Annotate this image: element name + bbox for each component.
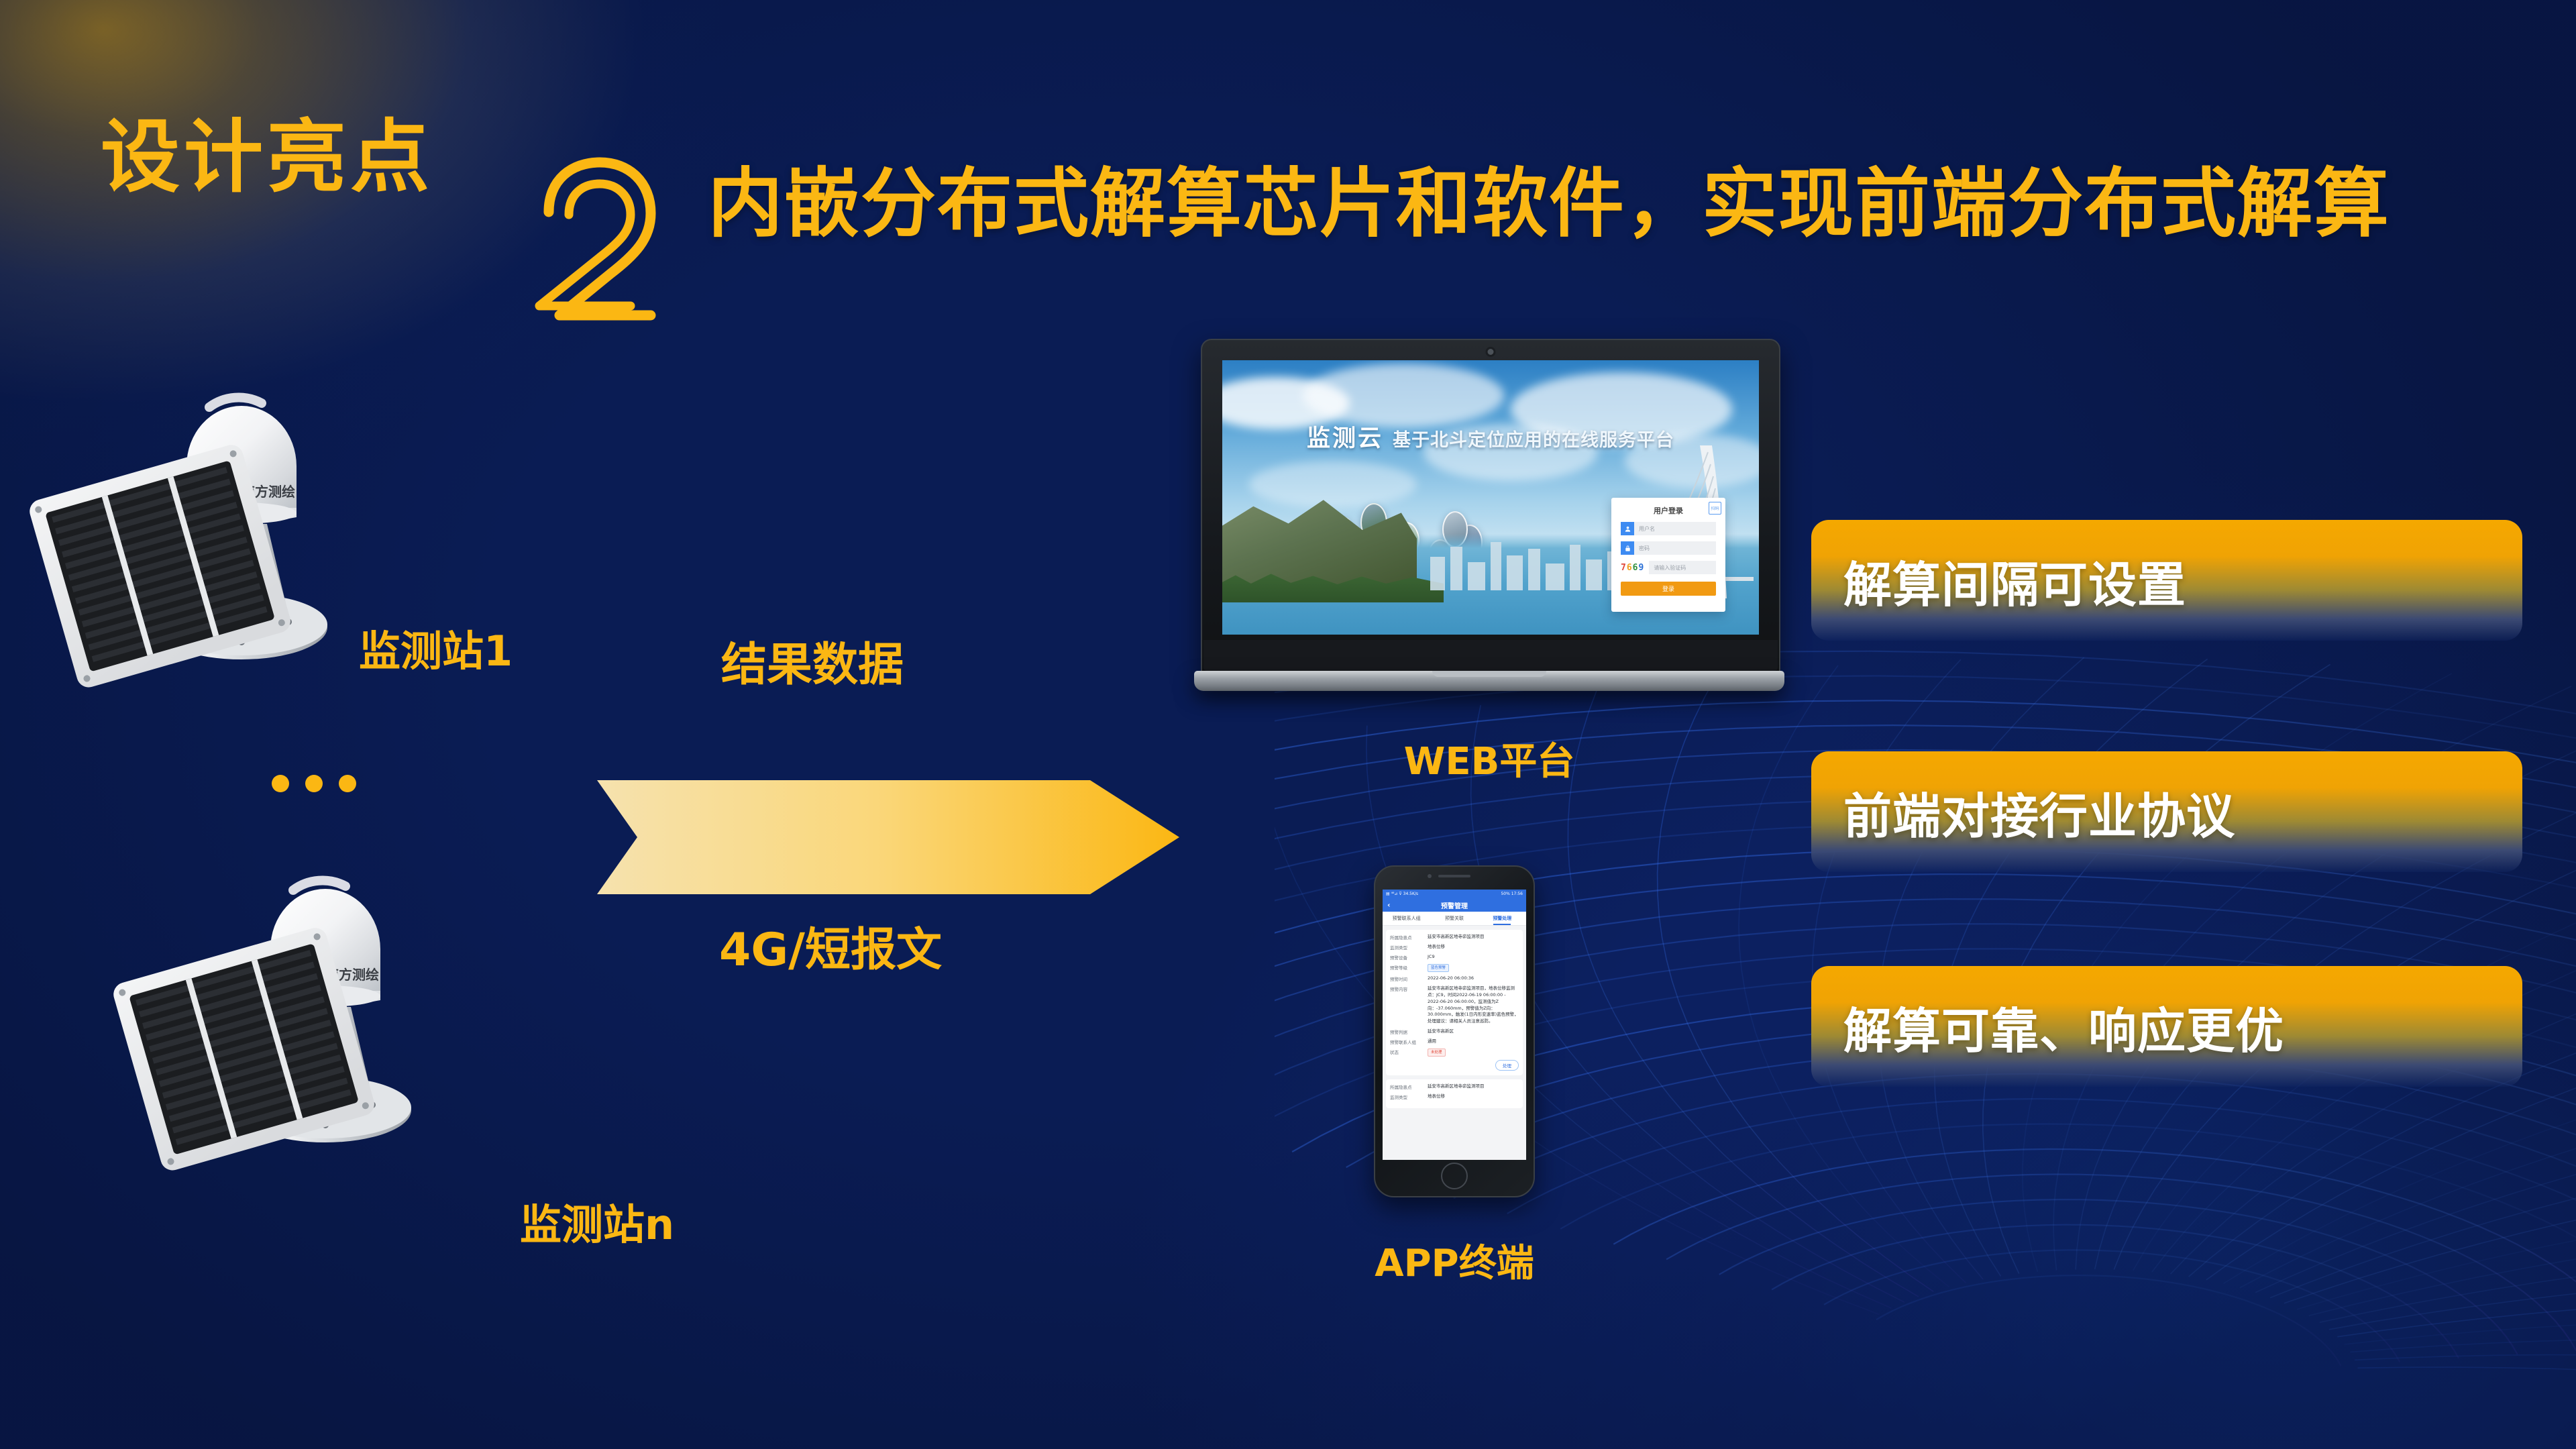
field-value: JC9 [1428, 954, 1519, 961]
alert-record-card-2: 所属隐患点延安市高新区地寺峁监测项目 监测类型地表位移 [1386, 1079, 1523, 1108]
laptop-device: 监测云基于北斗定位应用的在线服务平台 [1194, 339, 1784, 714]
field-value: 地表位移 [1428, 944, 1519, 951]
monitoring-station-n-device: SOUTH 南方测绘 [104, 815, 480, 1191]
design-highlight-label: 设计亮点 [101, 117, 433, 197]
slide-root: 设计亮点 内嵌分布式解算芯片和软件，实现前端分布式解算 [0, 0, 2576, 1449]
field-key: 预警内容 [1390, 985, 1428, 1025]
feature-badge-protocol[interactable]: 前端对接行业协议 [1811, 751, 2522, 872]
field-key: 监测类型 [1390, 944, 1428, 951]
app-navbar: ‹ 预警管理 [1383, 898, 1526, 912]
station-n-label: 监测站n [520, 1191, 674, 1251]
laptop-screen: 监测云基于北斗定位应用的在线服务平台 [1222, 360, 1759, 635]
data-flow-arrow-icon [597, 775, 1181, 899]
page-title: 内嵌分布式解算芯片和软件，实现前端分布式解算 [708, 166, 2390, 241]
web-brand-name: 监测云 [1307, 425, 1383, 452]
field-value: 通用 [1428, 1038, 1519, 1045]
card-actions: 处理 [1390, 1060, 1519, 1071]
ellipsis-dots [272, 775, 356, 792]
handle-button[interactable]: 处理 [1495, 1060, 1519, 1071]
alert-record-card: 所属隐患点延安市高新区地寺峁监测项目 监测类型地表位移 预警设备JC9 预警等级… [1386, 930, 1523, 1075]
feature-badge-interval[interactable]: 解算间隔可设置 [1811, 520, 2522, 641]
field-key: 监测类型 [1390, 1093, 1428, 1100]
laptop-lid: 监测云基于北斗定位应用的在线服务平台 [1201, 339, 1780, 675]
web-platform-caption: WEB平台 [1194, 731, 1784, 786]
field-value: 未处理 [1428, 1049, 1519, 1057]
captcha-input[interactable]: 请输入验证码 [1649, 561, 1716, 574]
feature-badge-label: 解算间隔可设置 [1811, 545, 2186, 616]
password-field[interactable]: 密码 [1621, 541, 1716, 555]
app-tabbar: 预警联系人组 预警关联 预警处理 [1383, 912, 1526, 926]
tab-alert-handling[interactable]: 预警处理 [1479, 915, 1526, 922]
field-row: 预警设备JC9 [1390, 954, 1519, 961]
phone-speaker-grill [1438, 875, 1470, 877]
field-row: 监测类型地表位移 [1390, 944, 1519, 951]
captcha-row[interactable]: 7669 请输入验证码 [1621, 561, 1716, 574]
field-value: 蓝色预警 [1428, 964, 1519, 972]
field-key: 预警等级 [1390, 964, 1428, 972]
field-row: 预警时间2022-06-20 06:00:36 [1390, 975, 1519, 982]
field-key: 状态 [1390, 1049, 1428, 1057]
laptop-trackpad-notch [1432, 671, 1546, 677]
field-row: 监测类型地表位移 [1390, 1093, 1519, 1100]
field-value: 延安市高新区地寺峁监测项目 [1428, 934, 1519, 941]
login-submit-button[interactable]: 登录 [1621, 582, 1716, 596]
field-key: 预警判据 [1390, 1028, 1428, 1035]
field-row: 预警内容延安市高新区地寺峁监测项目，地表位移监测点：JC9，时间2022-06-… [1390, 985, 1519, 1025]
field-row: 预警等级蓝色预警 [1390, 964, 1519, 972]
status-badge: 未处理 [1428, 1049, 1446, 1057]
status-left-icons: ▤ ⁴⁶⊿ ⊽ 34.5K/s [1386, 892, 1418, 896]
battery-percent: 50% [1501, 892, 1509, 896]
field-row: 预警判据延安市高新区 [1390, 1028, 1519, 1035]
laptop-base [1194, 671, 1784, 691]
field-value: 2022-06-20 06:00:36 [1428, 975, 1519, 982]
design-highlight-block: 设计亮点 [101, 117, 433, 197]
user-icon [1621, 522, 1634, 535]
tab-alert-contacts[interactable]: 预警联系人组 [1383, 915, 1430, 922]
feature-badge-label: 前端对接行业协议 [1811, 777, 2235, 847]
flow-bottom-label: 4G/短报文 [719, 912, 942, 979]
app-nav-title: 预警管理 [1441, 900, 1468, 910]
field-key: 预警设备 [1390, 954, 1428, 961]
station-1-label: 监测站1 [359, 617, 513, 678]
home-button-icon[interactable] [1441, 1163, 1468, 1189]
phone-status-bar: ▤ ⁴⁶⊿ ⊽ 34.5K/s 50% 17:56 [1383, 890, 1526, 898]
field-key: 预警联系人组 [1390, 1038, 1428, 1045]
field-key: 预警时间 [1390, 975, 1428, 982]
monitoring-station-1-device: SOUTH 南方测绘 [20, 332, 396, 708]
captcha-image: 7669 [1621, 563, 1644, 573]
field-key: 所属隐患点 [1390, 934, 1428, 941]
feature-badge-reliable[interactable]: 解算可靠、响应更优 [1811, 966, 2522, 1087]
field-value: 延安市高新区地寺峁监测项目 [1428, 1083, 1519, 1090]
field-key: 所属隐患点 [1390, 1083, 1428, 1090]
app-caption: APP终端 [1320, 1233, 1589, 1287]
feature-badge-label: 解算可靠、响应更优 [1811, 991, 2284, 1062]
phone-screen: ▤ ⁴⁶⊿ ⊽ 34.5K/s 50% 17:56 ‹ 预警管理 预警联系人组 … [1383, 890, 1526, 1160]
field-value: 地表位移 [1428, 1093, 1519, 1100]
flow-top-label: 结果数据 [721, 627, 904, 694]
qr-code-icon[interactable]: 扫码 [1709, 502, 1721, 515]
password-placeholder: 密码 [1639, 545, 1650, 552]
phone-device: ▤ ⁴⁶⊿ ⊽ 34.5K/s 50% 17:56 ‹ 预警管理 预警联系人组 … [1374, 865, 1535, 1197]
login-panel: 扫码 用户登录 用户名 密码 [1611, 498, 1725, 612]
lock-icon [1621, 541, 1634, 555]
field-row: 状态未处理 [1390, 1049, 1519, 1057]
field-value: 延安市高新区 [1428, 1028, 1519, 1035]
chevron-left-icon[interactable]: ‹ [1387, 901, 1391, 910]
field-row: 预警联系人组通用 [1390, 1038, 1519, 1045]
phone-body: ▤ ⁴⁶⊿ ⊽ 34.5K/s 50% 17:56 ‹ 预警管理 预警联系人组 … [1374, 865, 1535, 1197]
status-right: 50% 17:56 [1501, 892, 1523, 896]
field-value: 延安市高新区地寺峁监测项目，地表位移监测点：JC9，时间2022-06-19 0… [1428, 985, 1519, 1025]
alert-level-badge: 蓝色预警 [1428, 964, 1449, 972]
web-platform-page: 监测云基于北斗定位应用的在线服务平台 [1222, 360, 1759, 635]
highlight-number-2-outline [523, 148, 678, 342]
field-row: 所属隐患点延安市高新区地寺峁监测项目 [1390, 934, 1519, 941]
cloud-shape [1303, 364, 1504, 427]
username-field[interactable]: 用户名 [1621, 522, 1716, 535]
phone-camera-icon [1428, 874, 1432, 878]
laptop-camera-icon [1488, 349, 1494, 355]
laptop-bezel-chin [1203, 640, 1778, 671]
username-placeholder: 用户名 [1639, 525, 1655, 533]
clock: 17:56 [1511, 892, 1523, 896]
tab-alert-relation[interactable]: 预警关联 [1430, 915, 1478, 922]
captcha-placeholder: 请输入验证码 [1654, 564, 1686, 572]
field-row: 所属隐患点延安市高新区地寺峁监测项目 [1390, 1083, 1519, 1090]
